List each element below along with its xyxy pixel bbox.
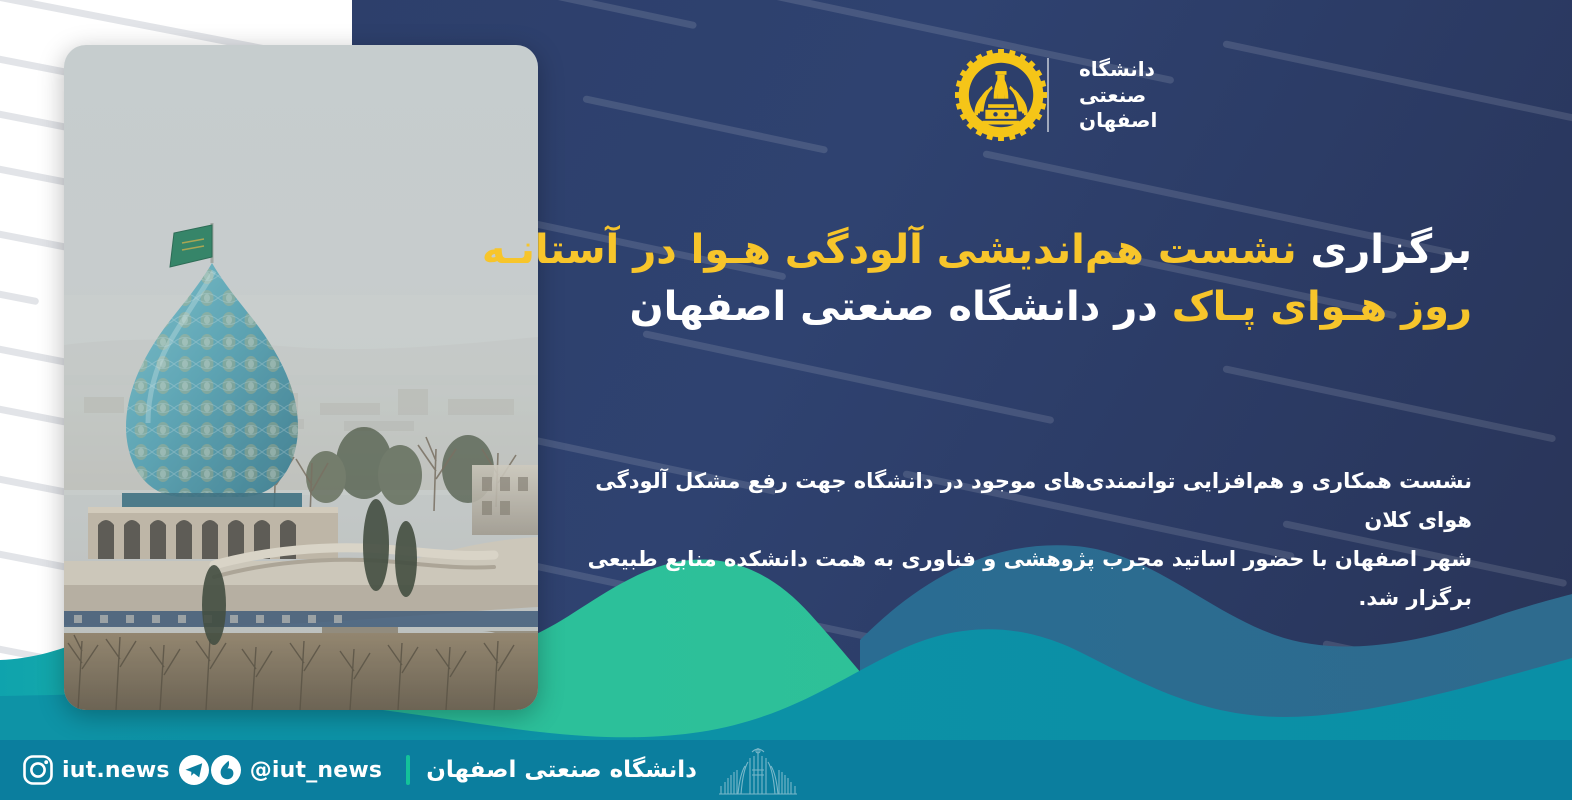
footer-bar: iut.news @iut_news دانشگاه صنعتی اصفهان — [0, 740, 1572, 800]
decorative-stripe — [402, 0, 697, 29]
footer-content: iut.news @iut_news دانشگاه صنعتی اصفهان — [0, 740, 797, 800]
poster-root: دانشگاه صنعتی اصفهان — [0, 0, 1572, 800]
iut-skyline-emblem-icon — [719, 744, 797, 796]
telegram-icon[interactable] — [178, 754, 210, 786]
instagram-icon[interactable] — [22, 754, 54, 786]
brand-line-2: صنعتی — [1079, 84, 1146, 106]
decorative-stripe — [1222, 365, 1556, 443]
decorative-stripe — [642, 330, 1054, 424]
decorative-stripe — [1322, 640, 1568, 699]
footer-university-name: دانشگاه صنعتی اصفهان — [426, 757, 697, 783]
instagram-handle[interactable]: iut.news — [62, 758, 170, 783]
headline: برگزاری نشست هم‌اندیشی آلودگی هـوا در آس… — [602, 222, 1472, 336]
brand-line-1: دانشگاه — [1079, 58, 1155, 80]
brand-logo-block: دانشگاه صنعتی اصفهان — [955, 44, 1170, 146]
decorative-stripe — [0, 285, 39, 305]
decorative-stripe — [0, 105, 69, 131]
body-copy: نشست همکاری و هم‌افزایی توانمندی‌های موج… — [572, 462, 1472, 617]
hero-photo — [64, 45, 538, 710]
decorative-stripe — [582, 95, 828, 154]
body-line-2: شهر اصفهان با حضور اساتید مجرب پژوهشی و … — [572, 540, 1472, 618]
eitaa-icon[interactable] — [210, 754, 242, 786]
headline-line-1: برگزاری نشست هم‌اندیشی آلودگی هـوا در آس… — [602, 222, 1472, 279]
brand-line-3: اصفهان — [1079, 109, 1157, 131]
brand-divider — [1047, 58, 1049, 132]
iut-gear-emblem-icon — [955, 49, 1047, 141]
headline-seg-white-1: برگزاری — [1311, 227, 1472, 273]
messenger-handle[interactable]: @iut_news — [250, 758, 383, 783]
brand-wordmark: دانشگاه صنعتی اصفهان — [1063, 58, 1157, 131]
decorative-stripe — [0, 640, 59, 664]
headline-seg-gold-2: روز هـوای پـاک — [1172, 284, 1472, 330]
headline-seg-white-2: در دانشگاه صنعتی اصفهان — [630, 284, 1158, 330]
body-line-1: نشست همکاری و هم‌افزایی توانمندی‌های موج… — [572, 462, 1472, 540]
headline-seg-gold-1: نشست هم‌اندیشی آلودگی هـوا در آستانـه — [482, 227, 1297, 273]
headline-line-2: روز هـوای پـاک در دانشگاه صنعتی اصفهان — [602, 279, 1472, 336]
decorative-stripe — [0, 340, 69, 366]
decorative-stripe — [1222, 40, 1572, 122]
footer-divider — [406, 755, 410, 785]
